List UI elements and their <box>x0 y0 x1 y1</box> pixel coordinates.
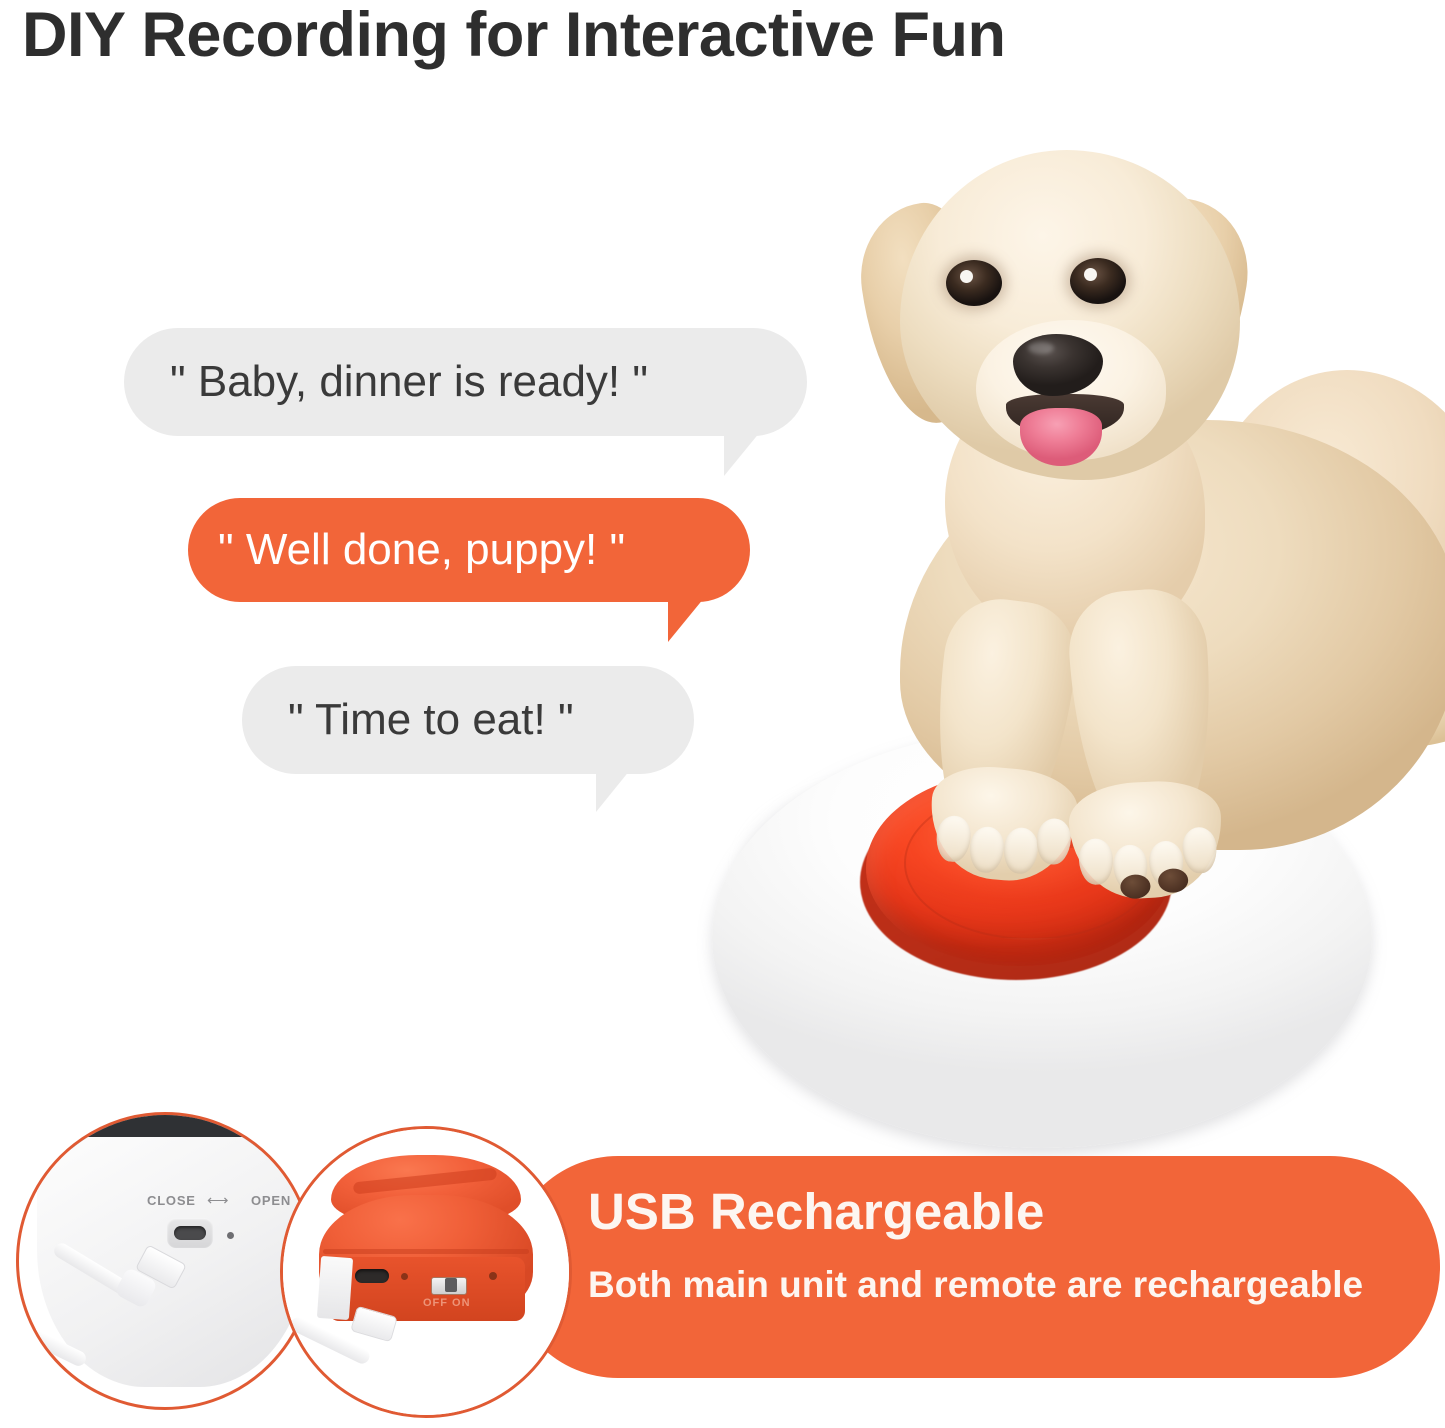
remote-reset-hole <box>401 1273 408 1280</box>
remote-usb-port <box>355 1269 389 1283</box>
speech-bubble-1-text: " Baby, dinner is ready! " <box>170 357 648 407</box>
speech-bubble-1-tail <box>724 432 760 476</box>
puppy-eye-glint <box>960 270 973 283</box>
banner-subtitle: Both main unit and remote are rechargeab… <box>588 1264 1363 1306</box>
inset-right-content: OFF ON <box>283 1129 569 1415</box>
speech-bubble-3: " Time to eat! " <box>242 666 694 774</box>
speech-bubble-3-tail <box>596 770 630 812</box>
double-arrow-icon: ⟷ <box>207 1196 241 1206</box>
inset-main-unit-charging: CLOSE ⟷ OPEN <box>16 1112 314 1410</box>
puppy-toe <box>1002 826 1040 875</box>
puppy-eye-right <box>1070 258 1126 304</box>
speech-bubble-2-text: " Well done, puppy! " <box>218 525 625 575</box>
power-switch-knob[interactable] <box>445 1278 457 1292</box>
speech-bubble-1: " Baby, dinner is ready! " <box>124 328 807 436</box>
puppy-paw-pad <box>1120 874 1151 900</box>
speech-bubble-3-text: " Time to eat! " <box>288 695 574 745</box>
product-photo: " Baby, dinner is ready! " " Well done, … <box>0 0 1445 1160</box>
close-label: CLOSE <box>147 1193 196 1208</box>
status-led <box>227 1232 234 1239</box>
remote-seam <box>323 1249 529 1254</box>
remote-white-tab <box>317 1256 353 1320</box>
puppy-eye-glint <box>1084 268 1097 281</box>
puppy-toe <box>968 825 1006 874</box>
speech-bubble-2-tail <box>668 598 704 642</box>
puppy-photo <box>770 120 1445 860</box>
speech-bubble-2: " Well done, puppy! " <box>188 498 750 602</box>
product-feature-image: DIY Recording for Interactive Fun <box>0 0 1445 1428</box>
remote-screw-hole <box>489 1272 497 1280</box>
banner-title: USB Rechargeable <box>588 1182 1044 1241</box>
inset-left-content: CLOSE ⟷ OPEN <box>19 1115 311 1407</box>
usb-c-port <box>174 1226 206 1240</box>
usb-rechargeable-banner: USB Rechargeable Both main unit and remo… <box>508 1156 1440 1378</box>
puppy-toe <box>1035 817 1073 866</box>
puppy-eye-left <box>946 260 1002 306</box>
puppy-toe <box>935 814 973 863</box>
inset-remote-charging: OFF ON <box>280 1126 572 1418</box>
puppy-nose-highlight <box>1028 342 1054 354</box>
power-switch-label: OFF ON <box>423 1297 471 1309</box>
